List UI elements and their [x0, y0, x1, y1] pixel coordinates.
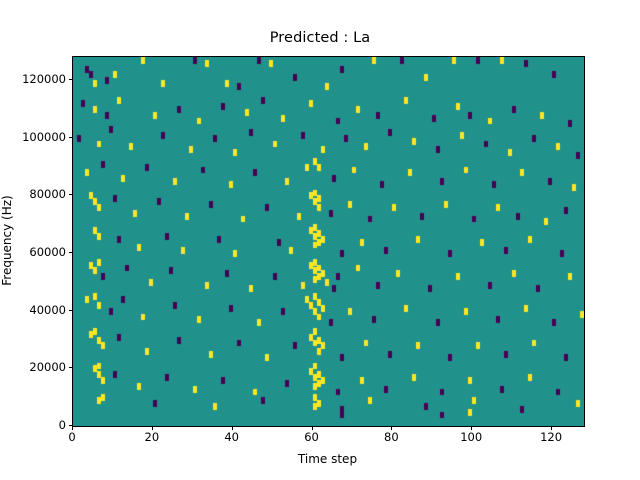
spectrogram-heatmap-canvas[interactable] [73, 57, 584, 426]
x-tick-label: 60 [304, 430, 319, 444]
y-tick-label: 120000 [22, 72, 66, 86]
x-tick-mark [152, 426, 153, 430]
y-tick-mark [69, 194, 73, 195]
x-tick-mark [312, 426, 313, 430]
y-tick-mark [69, 310, 73, 311]
x-tick-mark [551, 426, 552, 430]
heatmap-axes[interactable] [72, 56, 585, 427]
y-tick-mark [69, 367, 73, 368]
y-tick-label: 100000 [22, 130, 66, 144]
y-tick-mark [69, 137, 73, 138]
y-tick-label: 60000 [29, 245, 66, 259]
y-tick-label: 80000 [29, 187, 66, 201]
y-axis-label: Frequency (Hz) [0, 56, 16, 425]
x-tick-mark [391, 426, 392, 430]
y-tick-label: 20000 [29, 360, 66, 374]
x-tick-label: 120 [540, 430, 562, 444]
x-tick-label: 40 [224, 430, 239, 444]
y-tick-label: 0 [59, 418, 66, 432]
x-tick-label: 20 [145, 430, 160, 444]
x-axis-label: Time step [72, 452, 583, 466]
y-tick-label: 40000 [29, 303, 66, 317]
chart-title: Predicted : La [0, 30, 640, 46]
x-tick-label: 0 [68, 430, 75, 444]
x-tick-label: 80 [384, 430, 399, 444]
x-tick-mark [72, 426, 73, 430]
x-tick-mark [232, 426, 233, 430]
y-tick-mark [69, 252, 73, 253]
x-tick-mark [471, 426, 472, 430]
y-tick-mark [69, 79, 73, 80]
x-tick-label: 100 [460, 430, 482, 444]
matplotlib-figure: Predicted : La 0200004000060000800001000… [0, 0, 640, 480]
